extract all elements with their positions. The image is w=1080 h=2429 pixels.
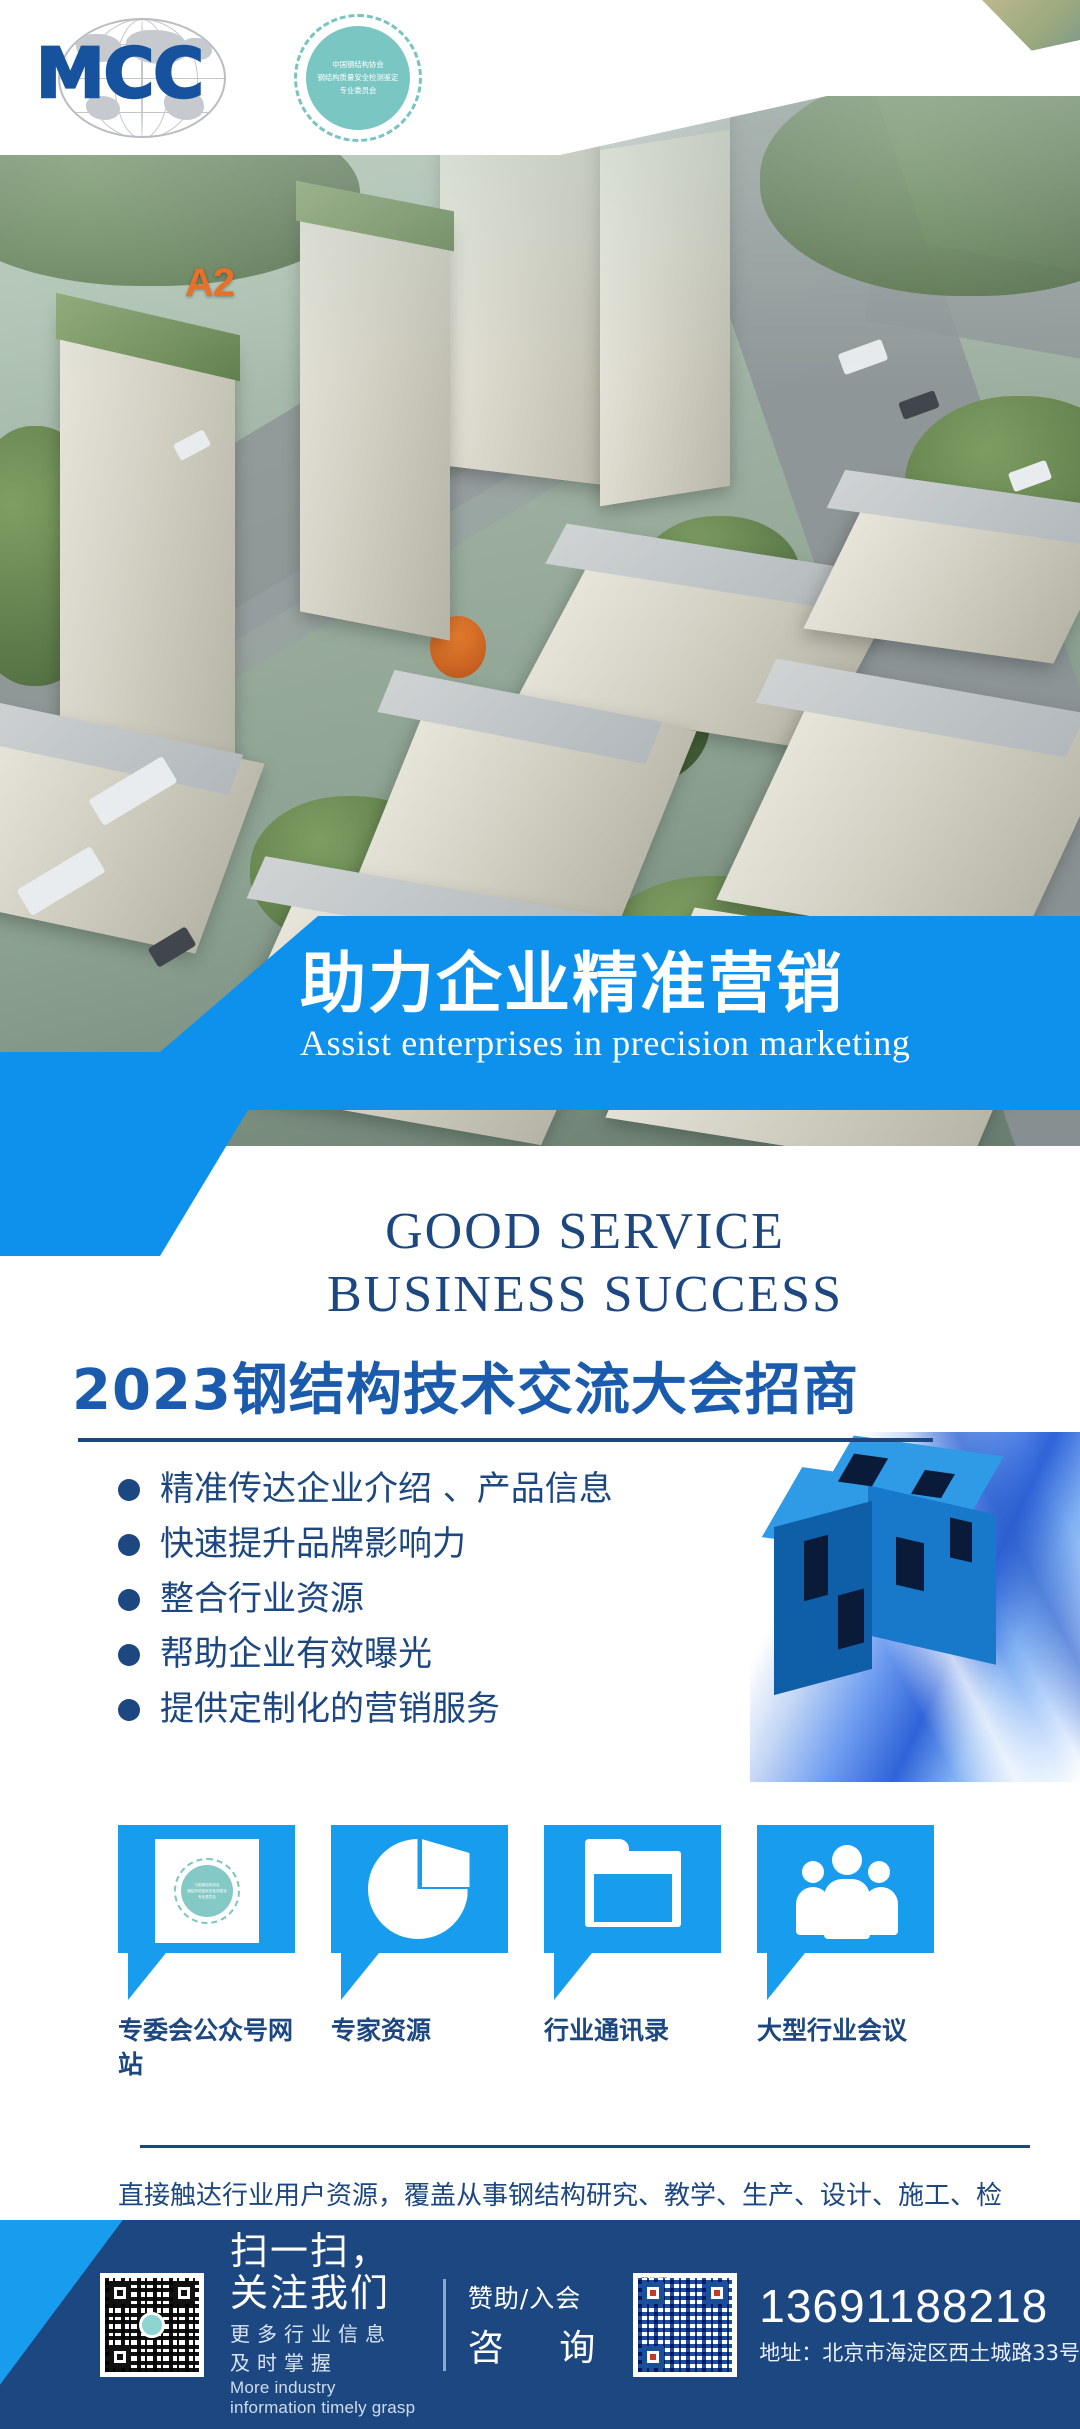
scan-subtitle-cn: 更多行业信息及时掌握 bbox=[230, 2318, 417, 2376]
card-label: 行业通讯录 bbox=[544, 2014, 721, 2048]
card-pin-shape bbox=[544, 1825, 721, 2000]
consult-block: 赞助/入会 咨 询 bbox=[468, 2279, 617, 2371]
mini-badge-line-3: 专业委员会 bbox=[198, 1894, 216, 1899]
address-line: 地址：北京市海淀区西土城路33号 bbox=[759, 2337, 1080, 2367]
people-group-icon bbox=[794, 1839, 898, 1943]
association-badge: 中国钢结构协会 钢结构质量安全检测鉴定 专业委员会 bbox=[294, 14, 422, 142]
feature-card-official-account[interactable]: 中国钢结构协会 钢结构质量安全检测鉴定 专业委员会 专委会公众号网站 bbox=[118, 1825, 295, 2082]
mini-badge-line-2: 钢结构质量安全检测鉴定 bbox=[187, 1888, 227, 1893]
list-item: 帮助企业有效曝光 bbox=[118, 1635, 613, 1674]
badge-disc: 中国钢结构协会 钢结构质量安全检测鉴定 专业委员会 bbox=[306, 26, 410, 130]
poster-footer: 扫一扫，关注我们 更多行业信息及时掌握 More industry inform… bbox=[0, 2220, 1080, 2429]
feature-card-expert-resources[interactable]: 专家资源 bbox=[331, 1825, 508, 2082]
feature-cards: 中国钢结构协会 钢结构质量安全检测鉴定 专业委员会 专委会公众号网站 专家资源 bbox=[118, 1825, 978, 2082]
headline-cn-title: 2023钢结构技术交流大会招商 bbox=[0, 1345, 1080, 1426]
mini-disc: 中国钢结构协会 钢结构质量安全检测鉴定 专业委员会 bbox=[181, 1865, 233, 1917]
list-item: 快速提升品牌影响力 bbox=[118, 1525, 613, 1564]
scan-text-block: 扫一扫，关注我们 更多行业信息及时掌握 More industry inform… bbox=[230, 2231, 417, 2419]
mini-badge-line-1: 中国钢结构协会 bbox=[194, 1883, 219, 1888]
card-label: 专家资源 bbox=[331, 2014, 508, 2048]
bullet-dot-icon bbox=[118, 1589, 140, 1611]
footer-divider bbox=[443, 2279, 446, 2371]
pie-chart-icon bbox=[368, 1839, 472, 1943]
qr-finder-bottom-left bbox=[642, 2346, 664, 2368]
wechat-qr-code[interactable] bbox=[100, 2273, 204, 2377]
headline-underline bbox=[78, 1438, 933, 1442]
contact-block: 殷淑娜 13691188218 地址：北京市海淀区西土城路33号 bbox=[633, 2273, 1080, 2377]
list-item: 提供定制化的营销服务 bbox=[118, 1690, 613, 1729]
qr-finder-top-left bbox=[642, 2282, 664, 2304]
banner-title-en: Assist enterprises in precision marketin… bbox=[300, 1022, 1080, 1064]
list-item: 精准传达企业介绍 、产品信息 bbox=[118, 1470, 613, 1509]
feature-card-industry-conference[interactable]: 大型行业会议 bbox=[757, 1825, 934, 2082]
phone-number[interactable]: 13691188218 bbox=[759, 2282, 1080, 2330]
headline-block: GOOD SERVICE BUSINESS SUCCESS 2023钢结构技术交… bbox=[0, 1200, 1080, 1442]
qr-finder-top-right bbox=[173, 2282, 195, 2304]
list-item: 整合行业资源 bbox=[118, 1580, 613, 1619]
mini-ring: 中国钢结构协会 钢结构质量安全检测鉴定 专业委员会 bbox=[174, 1858, 240, 1924]
mcc-logo: MCC bbox=[36, 14, 251, 142]
pie-slice bbox=[422, 1839, 470, 1887]
banner-title-cn: 助力企业精准营销 bbox=[300, 930, 1060, 1026]
card-pin-shape bbox=[757, 1825, 934, 2000]
consult-top-label: 赞助/入会 bbox=[468, 2279, 617, 2315]
card-label: 专委会公众号网站 bbox=[118, 2014, 295, 2082]
qr-finder-bottom-left bbox=[109, 2346, 131, 2368]
qr-center-logo bbox=[139, 2312, 165, 2338]
folder-icon bbox=[581, 1839, 685, 1943]
card-label: 大型行业会议 bbox=[757, 2014, 934, 2048]
bullet-dot-icon bbox=[118, 1644, 140, 1666]
qr-finder-top-right bbox=[706, 2282, 728, 2304]
bullet-label: 提供定制化的营销服务 bbox=[160, 1690, 500, 1729]
scan-subtitle-en: More industry information timely grasp bbox=[230, 2378, 417, 2418]
bullet-label: 精准传达企业介绍 、产品信息 bbox=[160, 1470, 613, 1509]
steel-cube-artwork bbox=[750, 1432, 1080, 1782]
bullet-dot-icon bbox=[118, 1699, 140, 1721]
scan-title: 扫一扫，关注我们 bbox=[230, 2231, 417, 2315]
puzzle-cube-icon bbox=[768, 1442, 1038, 1702]
consult-bottom-label: 咨 询 bbox=[468, 2319, 617, 2371]
building-marker-a2: A2 bbox=[185, 261, 234, 306]
badge-line-3: 专业委员会 bbox=[340, 86, 377, 95]
contact-qr-code[interactable]: 殷淑娜 bbox=[633, 2273, 737, 2377]
badge-line-2: 钢结构质量安全检测鉴定 bbox=[318, 73, 399, 82]
card-pin-shape bbox=[331, 1825, 508, 2000]
contact-details: 13691188218 地址：北京市海淀区西土城路33号 bbox=[759, 2282, 1080, 2366]
qr-badge-icon: 中国钢结构协会 钢结构质量安全检测鉴定 专业委员会 bbox=[155, 1839, 259, 1943]
headline-en-line-2: BUSINESS SUCCESS bbox=[0, 1263, 1080, 1326]
feature-card-industry-directory[interactable]: 行业通讯录 bbox=[544, 1825, 721, 2082]
mcc-wordmark: MCC bbox=[36, 40, 251, 109]
bullet-label: 帮助企业有效曝光 bbox=[160, 1635, 432, 1674]
card-pin-shape: 中国钢结构协会 钢结构质量安全检测鉴定 专业委员会 bbox=[118, 1825, 295, 2000]
header-photo-shard bbox=[940, 0, 1080, 100]
headline-en-line-1: GOOD SERVICE bbox=[0, 1200, 1080, 1263]
qr-finder-top-left bbox=[109, 2282, 131, 2304]
benefits-list: 精准传达企业介绍 、产品信息 快速提升品牌影响力 整合行业资源 帮助企业有效曝光… bbox=[118, 1470, 613, 1745]
bullet-dot-icon bbox=[118, 1534, 140, 1556]
bullet-label: 整合行业资源 bbox=[160, 1580, 364, 1619]
description-divider bbox=[140, 2145, 1030, 2148]
folder-front bbox=[589, 1869, 677, 1927]
bullet-label: 快速提升品牌影响力 bbox=[160, 1525, 466, 1564]
bullet-dot-icon bbox=[118, 1479, 140, 1501]
badge-line-1: 中国钢结构协会 bbox=[332, 60, 384, 69]
